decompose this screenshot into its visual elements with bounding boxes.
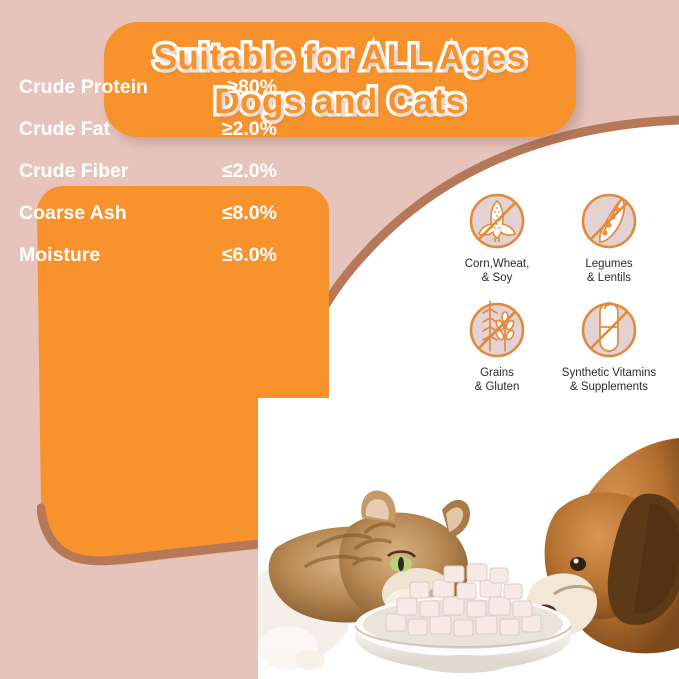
no-corn-icon [466,190,528,252]
free-from-label: Corn,Wheat, & Soy [465,257,530,285]
nutrition-row: Moisture ≤6.0% [19,244,277,267]
no-legumes-icon [578,190,640,252]
headline-line-1: Suitable for ALL Ages [154,36,527,80]
nutrition-table: Crude Protein ≥80% Crude Fat ≥2.0% Crude… [19,76,277,286]
nutrition-value: ≥2.0% [222,118,277,141]
nutrition-value: ≤6.0% [222,244,277,267]
nutrition-label: Crude Fiber [19,160,128,183]
nutrition-row: Crude Fat ≥2.0% [19,118,277,141]
free-from-item-grains: Grains & Gluten [443,299,551,394]
pets-eating-photo [258,398,679,679]
nutrition-label: Moisture [19,244,100,267]
nutrition-value: ≥80% [227,76,277,99]
free-from-label: Grains & Gluten [475,366,520,394]
free-from-grid: Corn,Wheat, & Soy [443,190,675,394]
free-from-item-legumes: Legumes & Lentils [551,190,667,285]
nutrition-row: Crude Fiber ≤2.0% [19,160,277,183]
nutrition-value: ≤2.0% [222,160,277,183]
nutrition-label: Crude Protein [19,76,148,99]
free-from-item-synthetic-vitamins: Synthetic Vitamins & Supplements [551,299,667,394]
free-from-item-corn: Corn,Wheat, & Soy [443,190,551,285]
no-grains-icon [466,299,528,361]
nutrition-value: ≤8.0% [222,202,277,225]
nutrition-label: Crude Fat [19,118,110,141]
no-synthetic-vitamins-icon [578,299,640,361]
nutrition-row: Crude Protein ≥80% [19,76,277,99]
nutrition-row: Coarse Ash ≤8.0% [19,202,277,225]
free-from-label: Synthetic Vitamins & Supplements [562,366,656,394]
product-infographic: Suitable for ALL Ages Dogs and Cats Crud… [0,0,679,679]
nutrition-label: Coarse Ash [19,202,127,225]
free-from-label: Legumes & Lentils [585,257,632,285]
